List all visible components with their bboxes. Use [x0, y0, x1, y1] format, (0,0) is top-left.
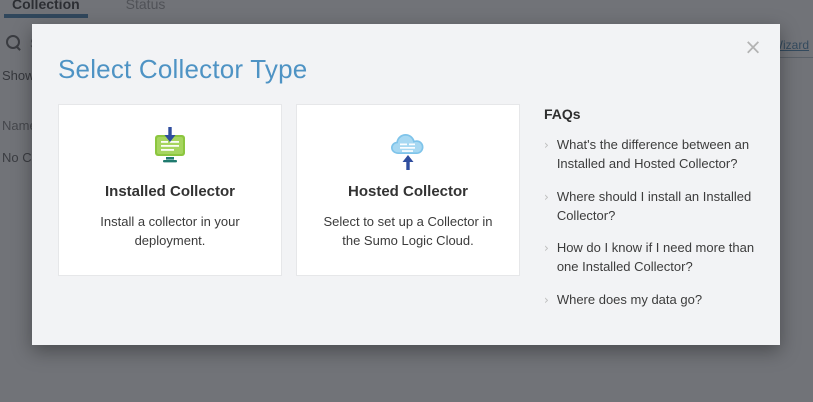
faq-item[interactable]: › Where does my data go?: [544, 291, 760, 310]
chevron-right-icon: ›: [544, 239, 549, 277]
faq-title: FAQs: [544, 106, 760, 122]
installed-collector-title: Installed Collector: [105, 183, 235, 200]
chevron-right-icon: ›: [544, 136, 549, 174]
installed-collector-card[interactable]: Installed Collector Install a collector …: [58, 104, 282, 276]
faq-panel: FAQs › What's the difference between an …: [544, 104, 760, 324]
dialog-body: Installed Collector Install a collector …: [58, 104, 760, 324]
faq-item[interactable]: › What's the difference between an Insta…: [544, 136, 760, 174]
faq-item[interactable]: › Where should I install an Installed Co…: [544, 188, 760, 226]
collector-type-cards: Installed Collector Install a collector …: [58, 104, 520, 324]
hosted-collector-title: Hosted Collector: [348, 183, 468, 200]
faq-item-label: What's the difference between an Install…: [557, 136, 760, 174]
faq-item[interactable]: › How do I know if I need more than one …: [544, 239, 760, 277]
chevron-right-icon: ›: [544, 188, 549, 226]
hosted-collector-icon: [382, 127, 434, 171]
dialog-title: Select Collector Type: [58, 54, 307, 85]
close-icon[interactable]: ×: [742, 36, 764, 58]
hosted-collector-description: Select to set up a Collector in the Sumo…: [319, 213, 497, 251]
hosted-collector-card[interactable]: Hosted Collector Select to set up a Coll…: [296, 104, 520, 276]
chevron-right-icon: ›: [544, 291, 549, 310]
select-collector-type-dialog: × Select Collector Type: [32, 24, 780, 345]
faq-item-label: Where should I install an Installed Coll…: [557, 188, 760, 226]
screen: Collection Status Search Show: All Name …: [0, 0, 813, 402]
installed-collector-icon: [144, 127, 196, 171]
faq-item-label: Where does my data go?: [557, 291, 702, 310]
installed-collector-description: Install a collector in your deployment.: [81, 213, 259, 251]
faq-item-label: How do I know if I need more than one In…: [557, 239, 760, 277]
